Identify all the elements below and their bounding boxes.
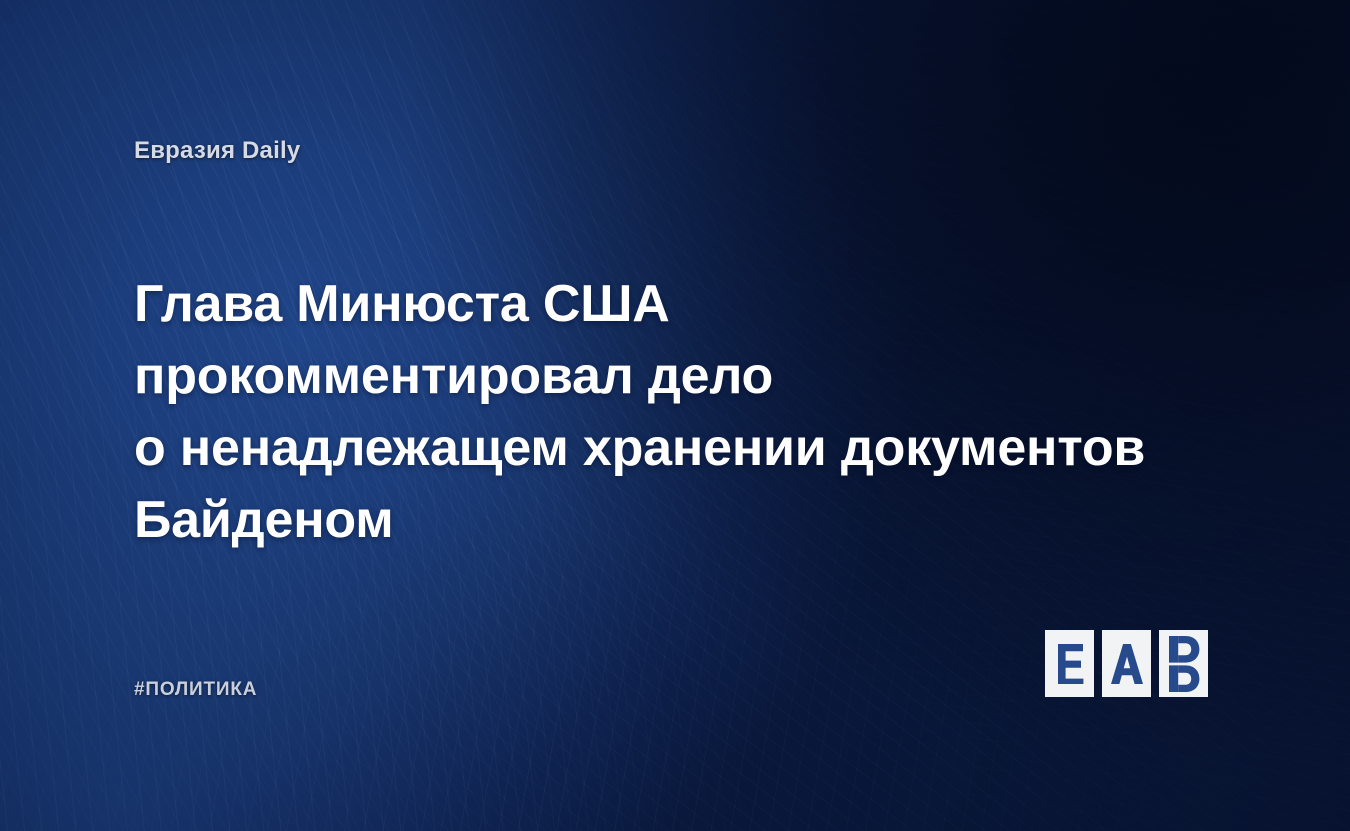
letter-d-split-glyph xyxy=(1167,635,1201,693)
brand-title: Евразия Daily xyxy=(134,137,300,165)
headline-line-3: о ненадлежащем хранении документов xyxy=(134,412,1254,484)
logo-tile-a xyxy=(1102,630,1151,697)
eadaily-logo xyxy=(1045,630,1208,697)
headline-line-2: прокомментировал дело xyxy=(134,340,1254,412)
logo-tile-e xyxy=(1045,630,1094,697)
headline: Глава Минюста США прокомментировал дело … xyxy=(134,268,1254,556)
logo-tile-d xyxy=(1159,630,1208,697)
headline-line-4: Байденом xyxy=(134,484,1254,556)
news-share-card: Евразия Daily Глава Минюста США прокомме… xyxy=(0,0,1350,831)
letter-a-glyph xyxy=(1110,642,1144,686)
headline-line-1: Глава Минюста США xyxy=(134,268,1254,340)
letter-e-glyph xyxy=(1055,642,1085,686)
category-hashtag: #ПОЛИТИКА xyxy=(134,679,257,701)
card-content: Евразия Daily Глава Минюста США прокомме… xyxy=(0,0,1350,831)
